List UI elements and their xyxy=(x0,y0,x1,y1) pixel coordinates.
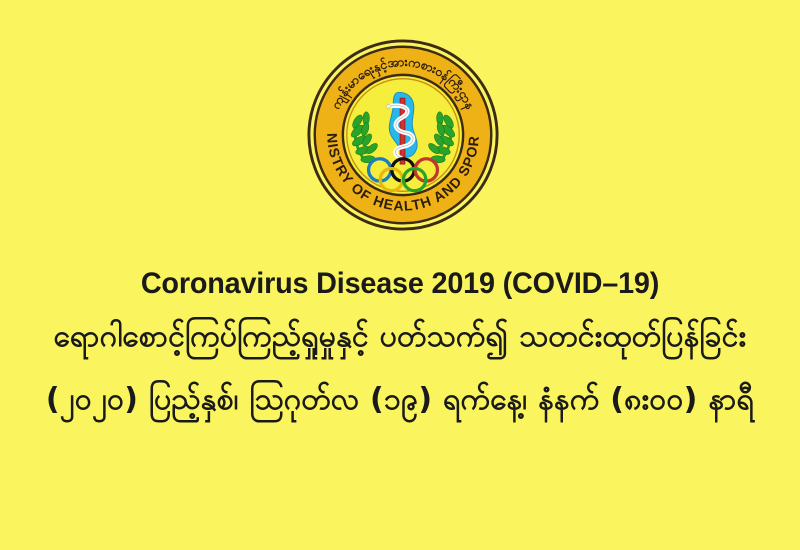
announcement-line-burmese-2: (၂၀၂၀) ပြည့်နှစ်၊ သြဂုတ်လ (၁၉) ရက်နေ့၊ န… xyxy=(0,368,800,432)
page-title-english: Coronavirus Disease 2019 (COVID–19) xyxy=(16,262,784,306)
ministry-emblem-svg: ကျန်းမာရေးနှင့်အားကစားဝန်ကြီးဌာန MINISTR… xyxy=(306,37,500,233)
ministry-emblem: ကျန်းမာရေးနှင့်အားကစားဝန်ကြီးဌာန MINISTR… xyxy=(306,37,500,233)
announcement-text-block: Coronavirus Disease 2019 (COVID–19) ရောဂ… xyxy=(0,262,800,432)
covid-announcement-slide: ကျန်းမာရေးနှင့်အားကစားဝန်ကြီးဌာန MINISTR… xyxy=(0,0,800,550)
announcement-line-burmese-1: ရောဂါစောင့်ကြပ်ကြည့်ရှုမှုနှင့် ပတ်သက်၍ … xyxy=(0,306,800,368)
